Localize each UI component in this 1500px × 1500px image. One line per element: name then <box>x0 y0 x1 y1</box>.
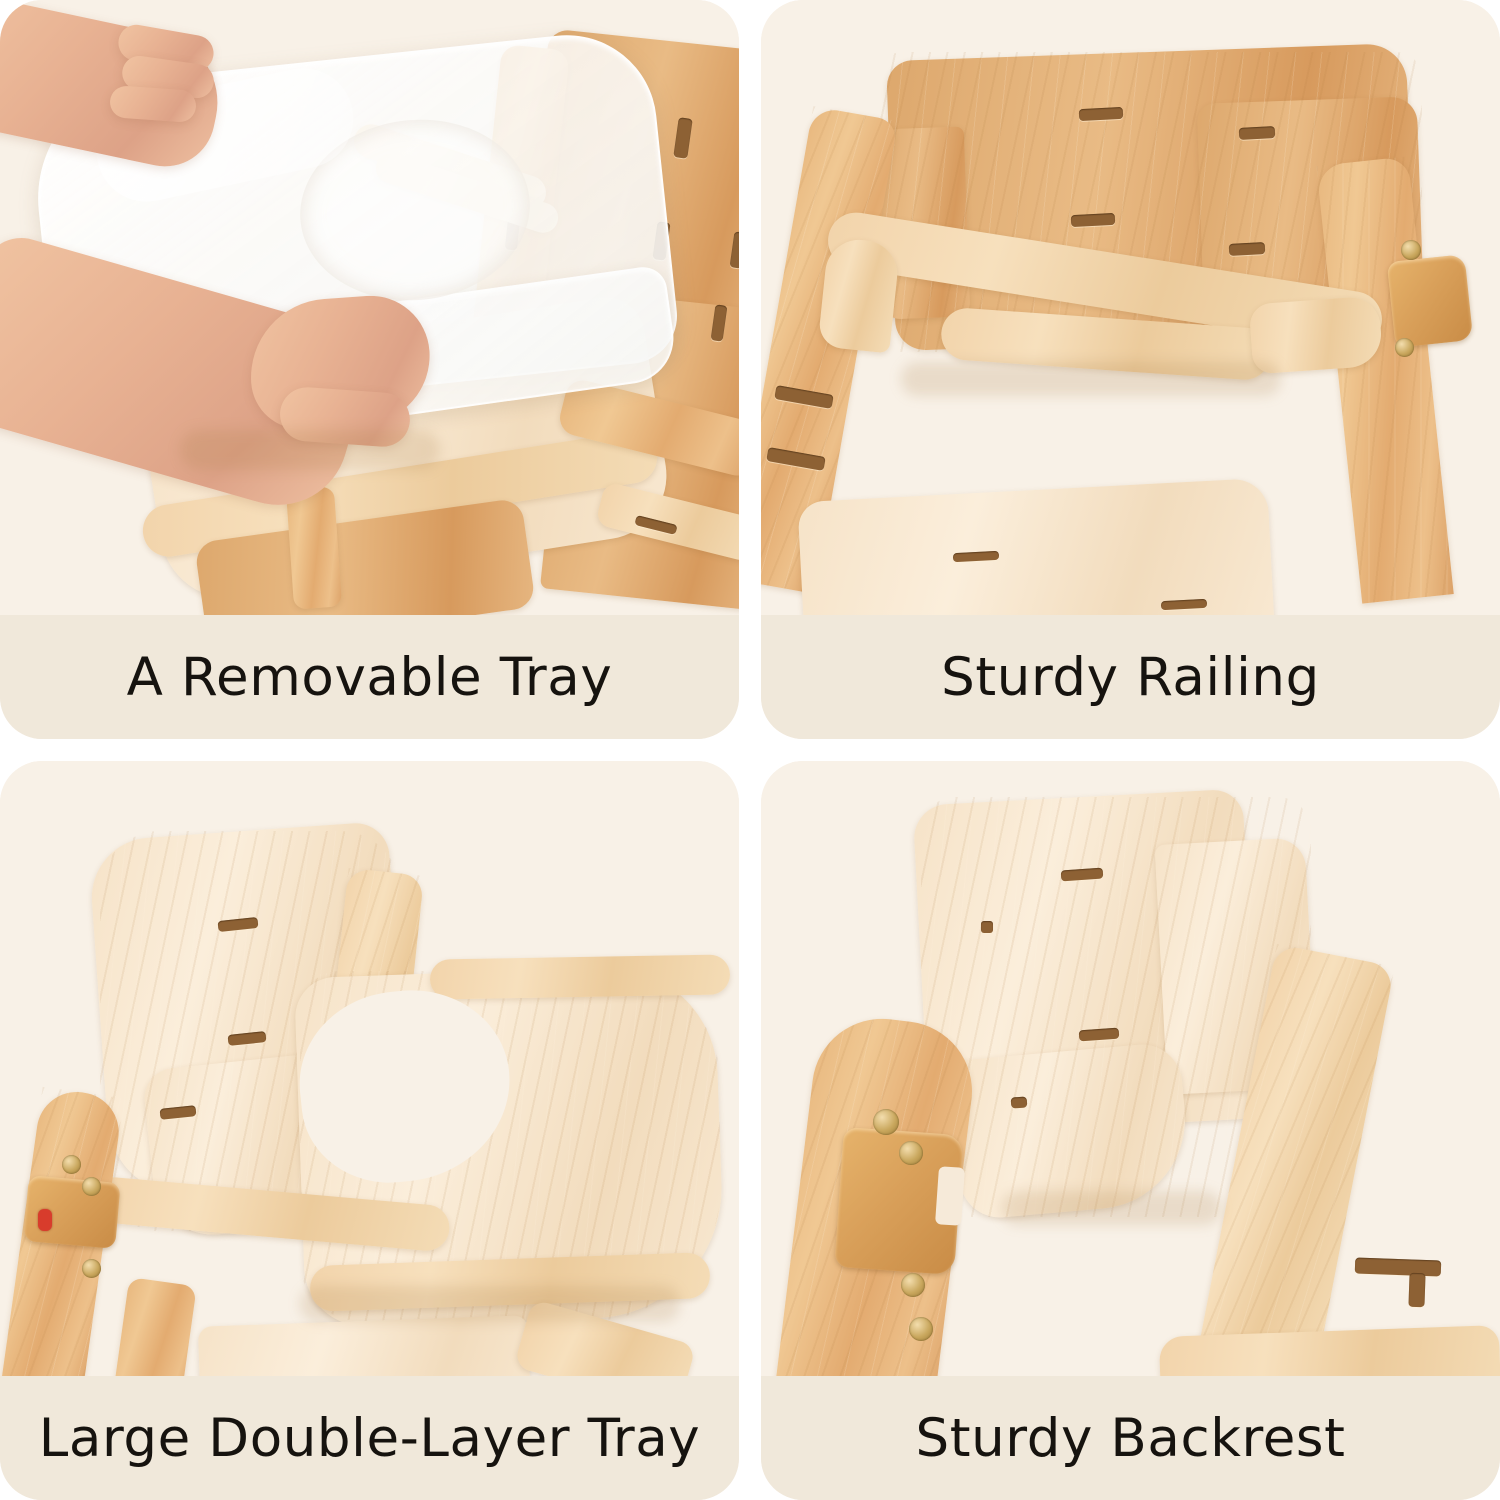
tray-clip-screw-3 <box>82 1259 101 1278</box>
sturdy-backrest-pin-hole <box>981 921 993 933</box>
hand-shadow <box>180 430 440 470</box>
railing-height-clip <box>1387 254 1474 348</box>
caption-band-sturdy-railing: Sturdy Railing <box>761 615 1500 739</box>
tray-shadow <box>300 1286 680 1322</box>
backrest-right-rail-notch-2 <box>1408 1273 1425 1308</box>
caption-double-layer-tray: Large Double-Layer Tray <box>39 1408 701 1469</box>
backrest-right-rail-notch <box>1355 1258 1442 1277</box>
backrest-clip-screw-lowest <box>909 1317 933 1341</box>
caption-sturdy-railing: Sturdy Railing <box>941 647 1320 708</box>
feature-card-sturdy-backrest[interactable]: Sturdy Backrest <box>761 761 1500 1500</box>
feature-card-double-layer-tray[interactable]: Large Double-Layer Tray <box>0 761 739 1500</box>
photo-sturdy-railing <box>761 0 1500 615</box>
photo-removable-tray <box>0 0 739 615</box>
tray-clip-red-indicator <box>38 1209 52 1231</box>
caption-band-sturdy-backrest: Sturdy Backrest <box>761 1376 1500 1500</box>
backrest-clip-notch <box>935 1166 965 1226</box>
caption-band-removable-tray: A Removable Tray <box>0 615 739 739</box>
feature-card-sturdy-railing[interactable]: Sturdy Railing <box>761 0 1500 739</box>
tray-lower-leg <box>107 1277 197 1376</box>
railing-shadow <box>901 362 1281 396</box>
feature-card-removable-tray[interactable]: A Removable Tray <box>0 0 739 739</box>
backrest-clip-screw-mid <box>899 1141 923 1165</box>
railing-backrest-slot-3 <box>1071 213 1116 227</box>
feature-grid: A Removable Tray <box>0 0 1500 1500</box>
double-layer-tray-rim <box>430 954 731 999</box>
photo-sturdy-backrest <box>761 761 1500 1376</box>
railing-backrest-slot-1 <box>1079 107 1124 121</box>
tray-clip-screw-1 <box>62 1155 81 1174</box>
railing-seat-panel <box>797 478 1274 615</box>
tray-clip-screw-2 <box>82 1177 101 1196</box>
backrest-clip-screw-top <box>873 1109 899 1135</box>
safety-railing-left-hook <box>817 237 900 354</box>
railing-clip-screw-top <box>1401 240 1421 260</box>
railing-right-upright <box>1316 156 1453 603</box>
caption-removable-tray: A Removable Tray <box>127 647 613 708</box>
railing-backrest-slot-2 <box>1239 126 1276 140</box>
photo-double-layer-tray <box>0 761 739 1376</box>
caption-band-double-layer-tray: Large Double-Layer Tray <box>0 1376 739 1500</box>
backrest-clip-screw-low <box>901 1273 925 1297</box>
finger-upper-3 <box>109 85 197 123</box>
tray-footrest-panel <box>198 1315 532 1376</box>
backrest-shadow <box>1001 1191 1221 1225</box>
railing-backrest-slot-4 <box>1229 242 1266 256</box>
sturdy-backrest-slot-3 <box>1011 1096 1028 1108</box>
caption-sturdy-backrest: Sturdy Backrest <box>915 1408 1345 1469</box>
chair-front-leg <box>286 486 342 609</box>
railing-clip-screw-bottom <box>1395 338 1414 357</box>
